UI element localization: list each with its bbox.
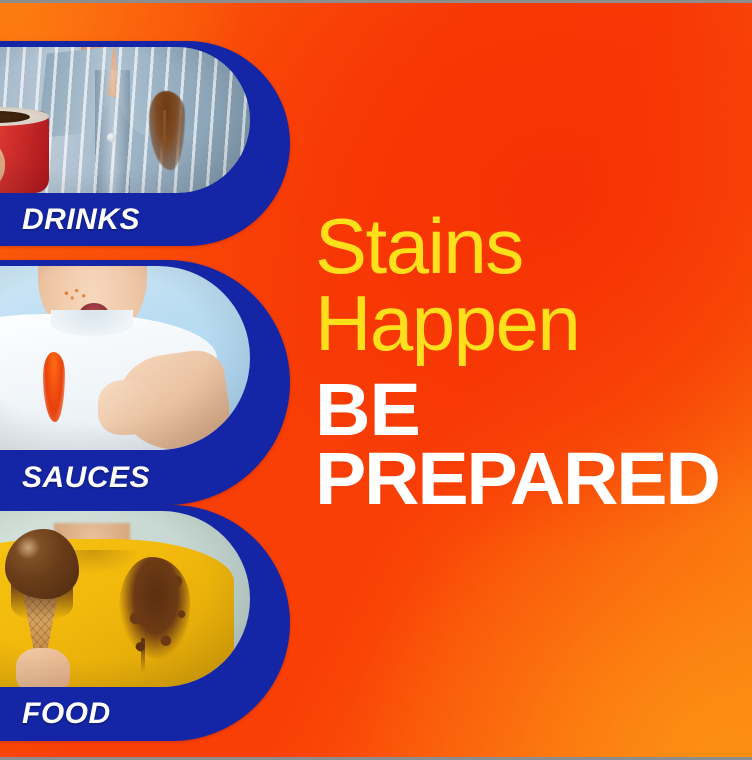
headline-be-prepared: BE PREPARED — [315, 376, 752, 512]
category-card-food[interactable]: FOOD — [0, 505, 290, 741]
headline-line-2: Happen — [315, 285, 745, 362]
category-card-drinks[interactable]: DRINKS — [0, 41, 290, 246]
photo-child-freckles — [60, 288, 93, 301]
headline-stains-happen: Stains Happen — [315, 208, 745, 362]
category-photo-sauces — [0, 266, 250, 450]
category-label-sauces: SAUCES — [22, 461, 150, 495]
advertisement-canvas: DRINKS SAUCES — [0, 0, 752, 760]
photo-chocolate-drip — [141, 638, 145, 673]
headline-block: Stains Happen BE PREPARED — [315, 208, 745, 513]
photo-chocolate-scoop — [5, 529, 78, 599]
category-card-sauces[interactable]: SAUCES — [0, 260, 290, 505]
category-photo-food — [0, 511, 250, 687]
photo-coffee-drip — [163, 110, 166, 158]
photo-chocolate-splatter — [119, 557, 190, 659]
category-label-food: FOOD — [22, 697, 111, 731]
headline-line-4: PREPARED — [315, 445, 752, 513]
photo-child-hand — [98, 380, 158, 435]
photo-child-hand — [16, 648, 70, 687]
category-capsule-column: DRINKS SAUCES — [0, 41, 290, 741]
photo-tshirt-neckline — [51, 310, 133, 336]
category-label-drinks: DRINKS — [22, 203, 140, 237]
headline-line-1: Stains — [315, 202, 523, 290]
category-photo-drinks — [0, 47, 250, 193]
